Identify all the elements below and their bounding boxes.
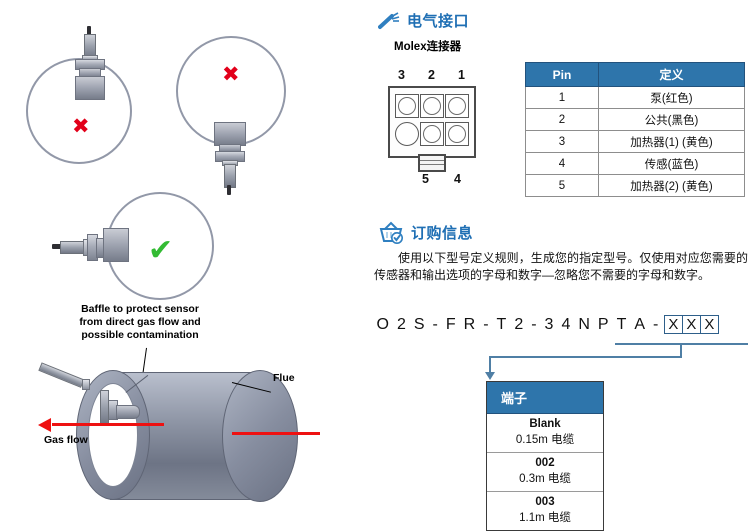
variable-code-boxes: X X X [664,315,719,334]
option-code: Blank [487,418,603,430]
incorrect-mark-top: ✖ [72,116,90,137]
table-row: 5 加热器(2) (黄色) [526,175,745,197]
code-char: 4 [559,316,576,334]
pin-cell: 1 [526,87,599,109]
baffle-caption: Baffle to protect sensor from direct gas… [72,303,208,341]
gas-flow-arrowhead [38,418,51,432]
variable-box-2: X [683,316,701,333]
option-description: 0.3m 电缆 [487,470,603,486]
definition-cell: 加热器(2) (黄色) [599,175,745,197]
option-description: 0.15m 电缆 [487,431,603,447]
code-char: R [461,316,481,334]
pin-cell: 5 [526,175,599,197]
pin-definition-table: Pin 定义 1 泵(红色) 2 公共(黑色) 3 加热器(1) (黄色) 4 … [525,62,745,197]
variable-box-1: X [665,316,683,333]
gas-flow-arrow-right [232,432,320,435]
connector-line-horizontal [489,356,682,358]
definition-cell: 加热器(1) (黄色) [599,131,745,153]
code-char: T [494,316,512,334]
connector-arrowhead [485,372,495,380]
ordering-section-header: 订购信息 [378,220,473,244]
option-table-header: 端子 [487,382,603,414]
specifications-panel: 电气接口 Molex连接器 3 2 1 5 4 Pin 定义 [370,0,753,528]
code-char: - [529,316,542,334]
code-char: S [411,316,430,334]
molex-subtitle: Molex连接器 [394,38,461,54]
terminal-option-table: 端子 Blank 0.15m 电缆 002 0.3m 电缆 003 1.1m 电… [486,381,604,531]
code-char: - [481,316,494,334]
pin-number-5: 5 [422,172,429,186]
model-number-code: O 2 S - F R - T 2 - 3 4 N P T A - X X X [374,315,719,334]
code-char: N [576,316,596,334]
code-char: 2 [512,316,529,334]
code-char: O [374,316,394,334]
pin-cell: 3 [526,131,599,153]
gas-flow-label: Gas flow [44,434,88,446]
code-char: T [614,316,632,334]
connector-line-vertical [489,356,491,373]
pin-cell: 4 [526,153,599,175]
pin-number-1: 1 [458,68,465,82]
ordering-heading: 订购信息 [411,222,473,243]
column-header-pin: Pin [526,63,599,87]
ordering-paragraph: 使用以下型号定义规则，生成您的指定型号。仅使用对应您需要的传感器和输出选项的字母… [374,250,748,285]
variable-box-3: X [701,316,718,333]
gas-flow-arrow-left [52,423,164,426]
code-char: 3 [542,316,559,334]
pin-number-4: 4 [454,172,461,186]
code-char: - [651,316,664,334]
pin-cell: 2 [526,109,599,131]
option-code: 003 [487,496,603,508]
basket-check-icon [378,220,404,244]
table-row: 2 公共(黑色) [526,109,745,131]
column-header-definition: 定义 [599,63,745,87]
option-row: 003 1.1m 电缆 [487,492,603,530]
table-header-row: Pin 定义 [526,63,745,87]
table-row: 4 传感(蓝色) [526,153,745,175]
sensor-shaft-flue [38,362,84,388]
code-char: - [430,316,443,334]
cable-icon [378,11,400,31]
code-char: 2 [394,316,411,334]
table-row: 1 泵(红色) [526,87,745,109]
pin-number-2: 2 [428,68,435,82]
electrical-section-header: 电气接口 [378,10,469,31]
definition-cell: 泵(红色) [599,87,745,109]
electrical-heading: 电气接口 [407,10,469,31]
definition-cell: 传感(蓝色) [599,153,745,175]
connector-line-vertical-right [680,343,682,357]
option-code: 002 [487,457,603,469]
definition-cell: 公共(黑色) [599,109,745,131]
correct-mark-side: ✔ [148,236,173,266]
option-row: 002 0.3m 电缆 [487,453,603,492]
table-row: 3 加热器(1) (黄色) [526,131,745,153]
code-char: F [443,316,461,334]
pin-number-3: 3 [398,68,405,82]
code-char: P [595,316,614,334]
incorrect-mark-bottom: ✖ [222,64,240,85]
flue-label: Flue [273,372,295,384]
code-char: A [632,316,651,334]
option-description: 1.1m 电缆 [487,509,603,525]
option-row: Blank 0.15m 电缆 [487,414,603,453]
mounting-illustrations: ✖ ✖ ✔ Baffle to protect sensor from dire… [0,0,370,528]
